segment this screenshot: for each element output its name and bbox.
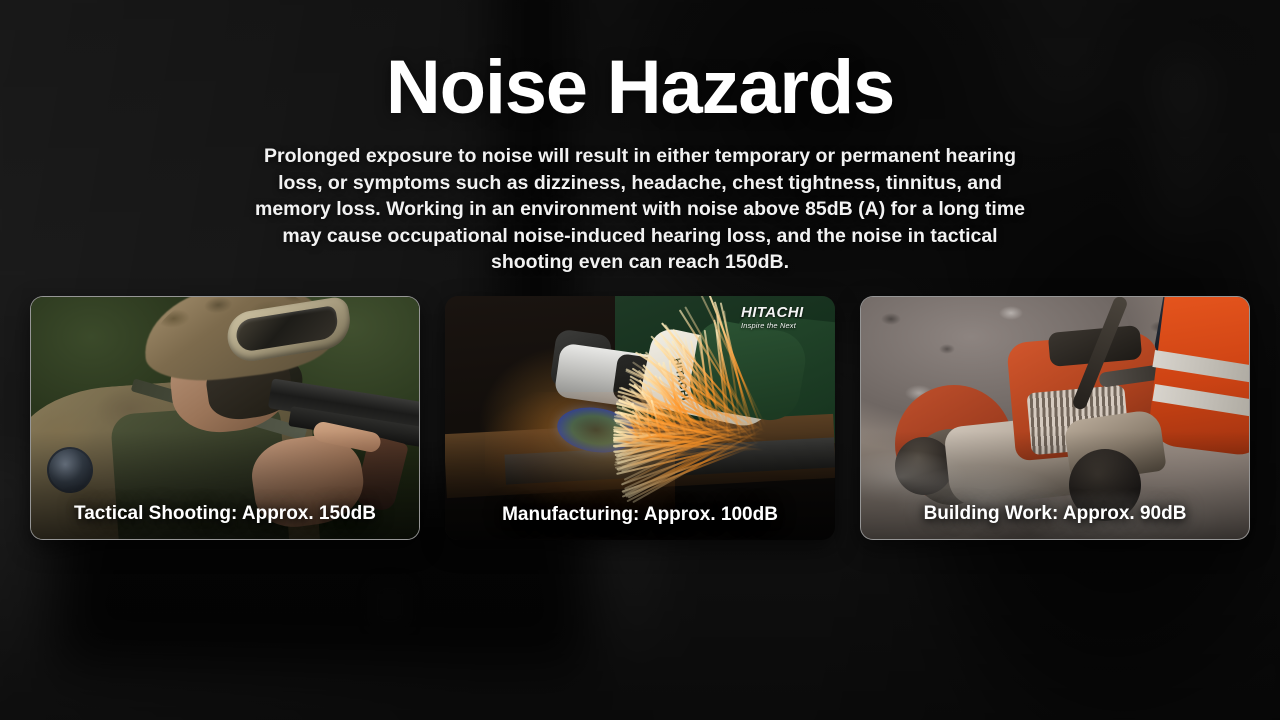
page-description: Prolonged exposure to noise will result … (240, 143, 1040, 276)
hitachi-logo-text: HITACHI (741, 304, 804, 321)
hazard-card-building-work[interactable]: Building Work: Approx. 90dB (860, 296, 1250, 540)
slide-content: Noise Hazards Prolonged exposure to nois… (0, 0, 1280, 720)
hitachi-logo-tagline: Inspire the Next (741, 321, 835, 330)
hazard-card-row: Tactical Shooting: Approx. 150dB HITACHI (30, 296, 1250, 540)
card-caption-building-work: Building Work: Approx. 90dB (861, 503, 1249, 539)
card-caption-manufacturing: Manufacturing: Approx. 100dB (445, 504, 835, 540)
hazard-card-tactical-shooting[interactable]: Tactical Shooting: Approx. 150dB (30, 296, 420, 540)
page-title: Noise Hazards (0, 48, 1280, 128)
hitachi-logo: HITACHI Inspire the Next (741, 304, 835, 330)
card-caption-tactical-shooting: Tactical Shooting: Approx. 150dB (31, 503, 419, 539)
noise-hazards-slide: Noise Hazards Prolonged exposure to nois… (0, 0, 1280, 720)
hazard-card-manufacturing[interactable]: HITACHI HITACHI Inspire the Next Manufac… (445, 296, 835, 540)
